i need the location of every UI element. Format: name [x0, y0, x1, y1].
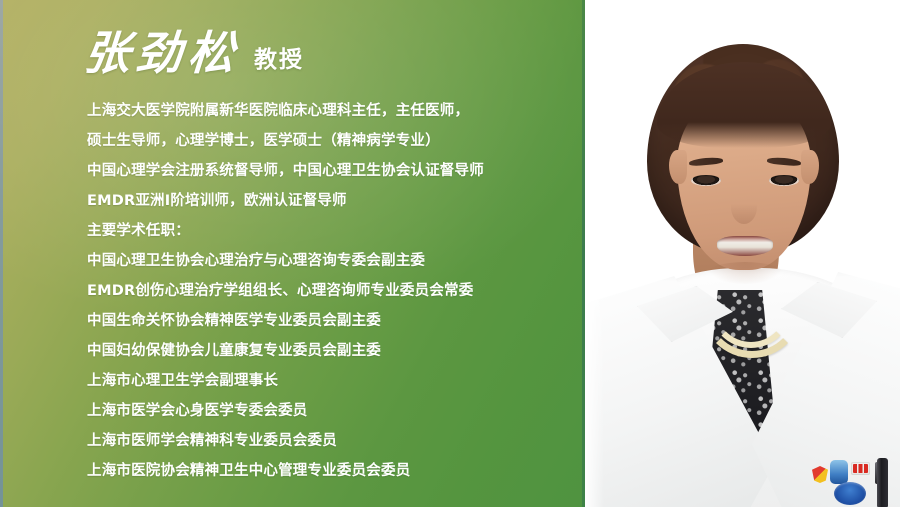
credential-line: 中国生命关怀协会精神医学专业委员会副主委	[87, 306, 567, 336]
credential-section-header: 主要学术任职：	[87, 216, 567, 246]
credential-line: 硕士生导师，心理学博士，医学硕士（精神病学专业）	[87, 126, 567, 156]
credential-line: 中国心理卫生协会心理治疗与心理咨询专委会副主委	[87, 246, 567, 276]
portrait-eye-left	[691, 175, 721, 186]
person-name: 张劲松	[82, 30, 241, 76]
credential-line: 上海市心理卫生学会副理事长	[87, 366, 567, 396]
credential-line: 上海市医院协会精神卫生中心管理专业委员会委员	[87, 456, 567, 486]
portrait-chin-shadow	[707, 262, 783, 284]
credential-list: 上海交大医学院附属新华医院临床心理科主任，主任医师， 硕士生导师，心理学博士，医…	[87, 96, 567, 486]
portrait-nose	[731, 190, 757, 224]
credential-line: 中国心理学会注册系统督导师，中国心理卫生协会认证督导师	[87, 156, 567, 186]
credential-line: EMDR亚洲I阶培训师，欧洲认证督导师	[87, 186, 567, 216]
lapel-name-badge-text	[853, 464, 868, 473]
credential-line: 中国妇幼保健协会儿童康复专业委员会副主委	[87, 336, 567, 366]
portrait-eye-right	[769, 175, 799, 186]
portrait-ear-left	[669, 150, 687, 184]
pocket-pen-icon	[877, 458, 888, 507]
credential-line: 上海市医师学会精神科专业委员会委员	[87, 426, 567, 456]
credential-line: EMDR创伤心理治疗学组组长、心理咨询师专业委员会常委	[87, 276, 567, 306]
lapel-blue-badge-icon	[830, 460, 848, 484]
portrait-photo	[585, 0, 900, 507]
lapel-oval-badge-icon	[834, 482, 866, 505]
credential-line: 上海交大医学院附属新华医院临床心理科主任，主任医师，	[87, 96, 567, 126]
profile-slide: 张劲松 教授 上海交大医学院附属新华医院临床心理科主任，主任医师， 硕士生导师，…	[0, 0, 900, 507]
academic-title: 教授	[254, 49, 304, 76]
credential-line: 上海市医学会心身医学专委会委员	[87, 396, 567, 426]
portrait-mouth	[717, 236, 773, 256]
heading: 张劲松 教授	[84, 30, 304, 76]
left-edge-rule	[0, 0, 3, 507]
